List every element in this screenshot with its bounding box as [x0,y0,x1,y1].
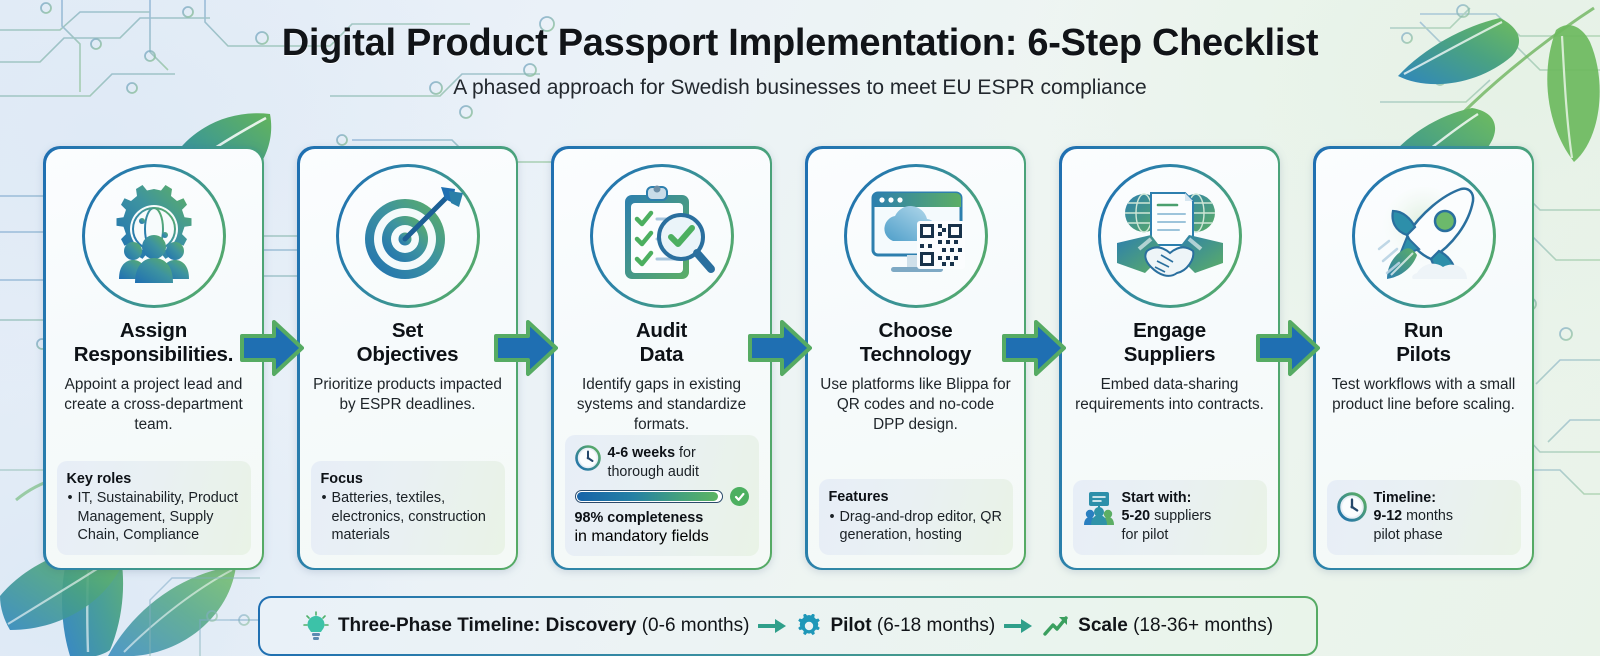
list-item: IT, Sustainability, Product Management, … [67,489,241,544]
progress-row [575,487,749,506]
step-card-choose-technology[interactable]: Choose Technology Use platforms like Bli… [805,146,1026,570]
step-title: Choose Technology [860,319,972,369]
progress-bar-fill [577,492,718,501]
gear-icon [797,614,821,638]
step-card-set-objectives[interactable]: Set Objectives Prioritize products impac… [297,146,518,570]
metric-text: Start with: 5-20 suppliers for pilot [1122,489,1212,545]
step-description: Use platforms like Blippa for QR codes a… [819,375,1013,435]
step-card-assign-responsibilities[interactable]: Assign Responsibilities. Appoint a proje… [43,146,264,570]
arrow-right-icon-2 [494,318,558,378]
step-title: Run Pilots [1396,319,1451,369]
arrow-right-icon-5 [1256,318,1320,378]
presentation-people-icon [1083,491,1115,525]
fact-heading: Features [829,488,1003,506]
step-description: Test workflows with a small product line… [1327,375,1521,415]
clock-icon [1337,492,1367,522]
gear-globe-people-icon [82,164,226,308]
step-title: Assign Responsibilities. [74,319,234,369]
step-title: Engage Suppliers [1124,319,1216,369]
page-title: Digital Product Passport Implementation:… [0,22,1600,65]
fact-heading: Key roles [67,470,241,488]
lightbulb-icon [303,611,329,641]
metric-row: Timeline: 9-12 months pilot phase [1337,489,1511,545]
fact-box: Key roles IT, Sustainability, Product Ma… [57,461,251,555]
metric-text: 4-6 weeks for thorough audit [608,444,749,481]
target-arrow-icon [336,164,480,308]
clock-icon [575,445,601,471]
progress-label-bold: 98% completeness [575,509,749,527]
arrow-right-icon-4 [1002,318,1066,378]
step-description: Appoint a project lead and create a cros… [57,375,251,435]
metric-row: 4-6 weeks for thorough audit [575,444,749,481]
fact-list: Drag-and-drop editor, QR generation, hos… [829,508,1003,545]
step-description: Embed data-sharing requirements into con… [1073,375,1267,415]
fact-box: Focus Batteries, textiles, electronics, … [311,461,505,555]
timeline-phase-scale: Scale (18-36+ months) [1078,615,1273,637]
progress-label-rest: in mandatory fields [575,528,749,546]
list-item: Batteries, textiles, electronics, constr… [321,489,495,544]
page-subtitle: A phased approach for Swedish businesses… [0,76,1600,100]
step-title: Audit Data [636,319,687,369]
metric-text: Timeline: 9-12 months pilot phase [1374,489,1453,545]
header: Digital Product Passport Implementation:… [0,22,1600,100]
fact-box: Start with: 5-20 suppliers for pilot [1073,480,1267,555]
step-card-engage-suppliers[interactable]: Engage Suppliers Embed data-sharing requ… [1059,146,1280,570]
check-icon [730,487,749,506]
arrow-right-icon-3 [748,318,812,378]
fact-box: 4-6 weeks for thorough audit 98% complet… [565,435,759,555]
fact-heading: Focus [321,470,495,488]
step-title: Set Objectives [357,319,459,369]
metric-row: Start with: 5-20 suppliers for pilot [1083,489,1257,545]
rocket-leaf-icon [1352,164,1496,308]
clipboard-magnifier-icon [590,164,734,308]
timeline-phase-pilot: Pilot (6-18 months) [830,615,995,637]
step-description: Identify gaps in existing systems and st… [565,375,759,435]
arrow-right-icon [1004,616,1034,636]
three-phase-timeline-bar[interactable]: Three-Phase Timeline: Discovery (0-6 mon… [258,596,1318,656]
step-description: Prioritize products impacted by ESPR dea… [311,375,505,415]
progress-bar [575,490,723,503]
fact-box: Features Drag-and-drop editor, QR genera… [819,479,1013,554]
arrow-right-icon [758,616,788,636]
fact-box: Timeline: 9-12 months pilot phase [1327,480,1521,555]
list-item: Drag-and-drop editor, QR generation, hos… [829,508,1003,545]
monitor-cloud-qr-icon [844,164,988,308]
step-card-run-pilots[interactable]: Run Pilots Test workflows with a small p… [1313,146,1534,570]
step-card-audit-data[interactable]: Audit Data Identify gaps in existing sys… [551,146,772,570]
trend-up-icon [1043,615,1069,637]
arrow-right-icon-1 [240,318,304,378]
fact-list: Batteries, textiles, electronics, constr… [321,489,495,544]
timeline-text: Three-Phase Timeline: Discovery (0-6 mon… [338,615,750,637]
handshake-document-globe-icon [1098,164,1242,308]
fact-list: IT, Sustainability, Product Management, … [67,489,241,544]
